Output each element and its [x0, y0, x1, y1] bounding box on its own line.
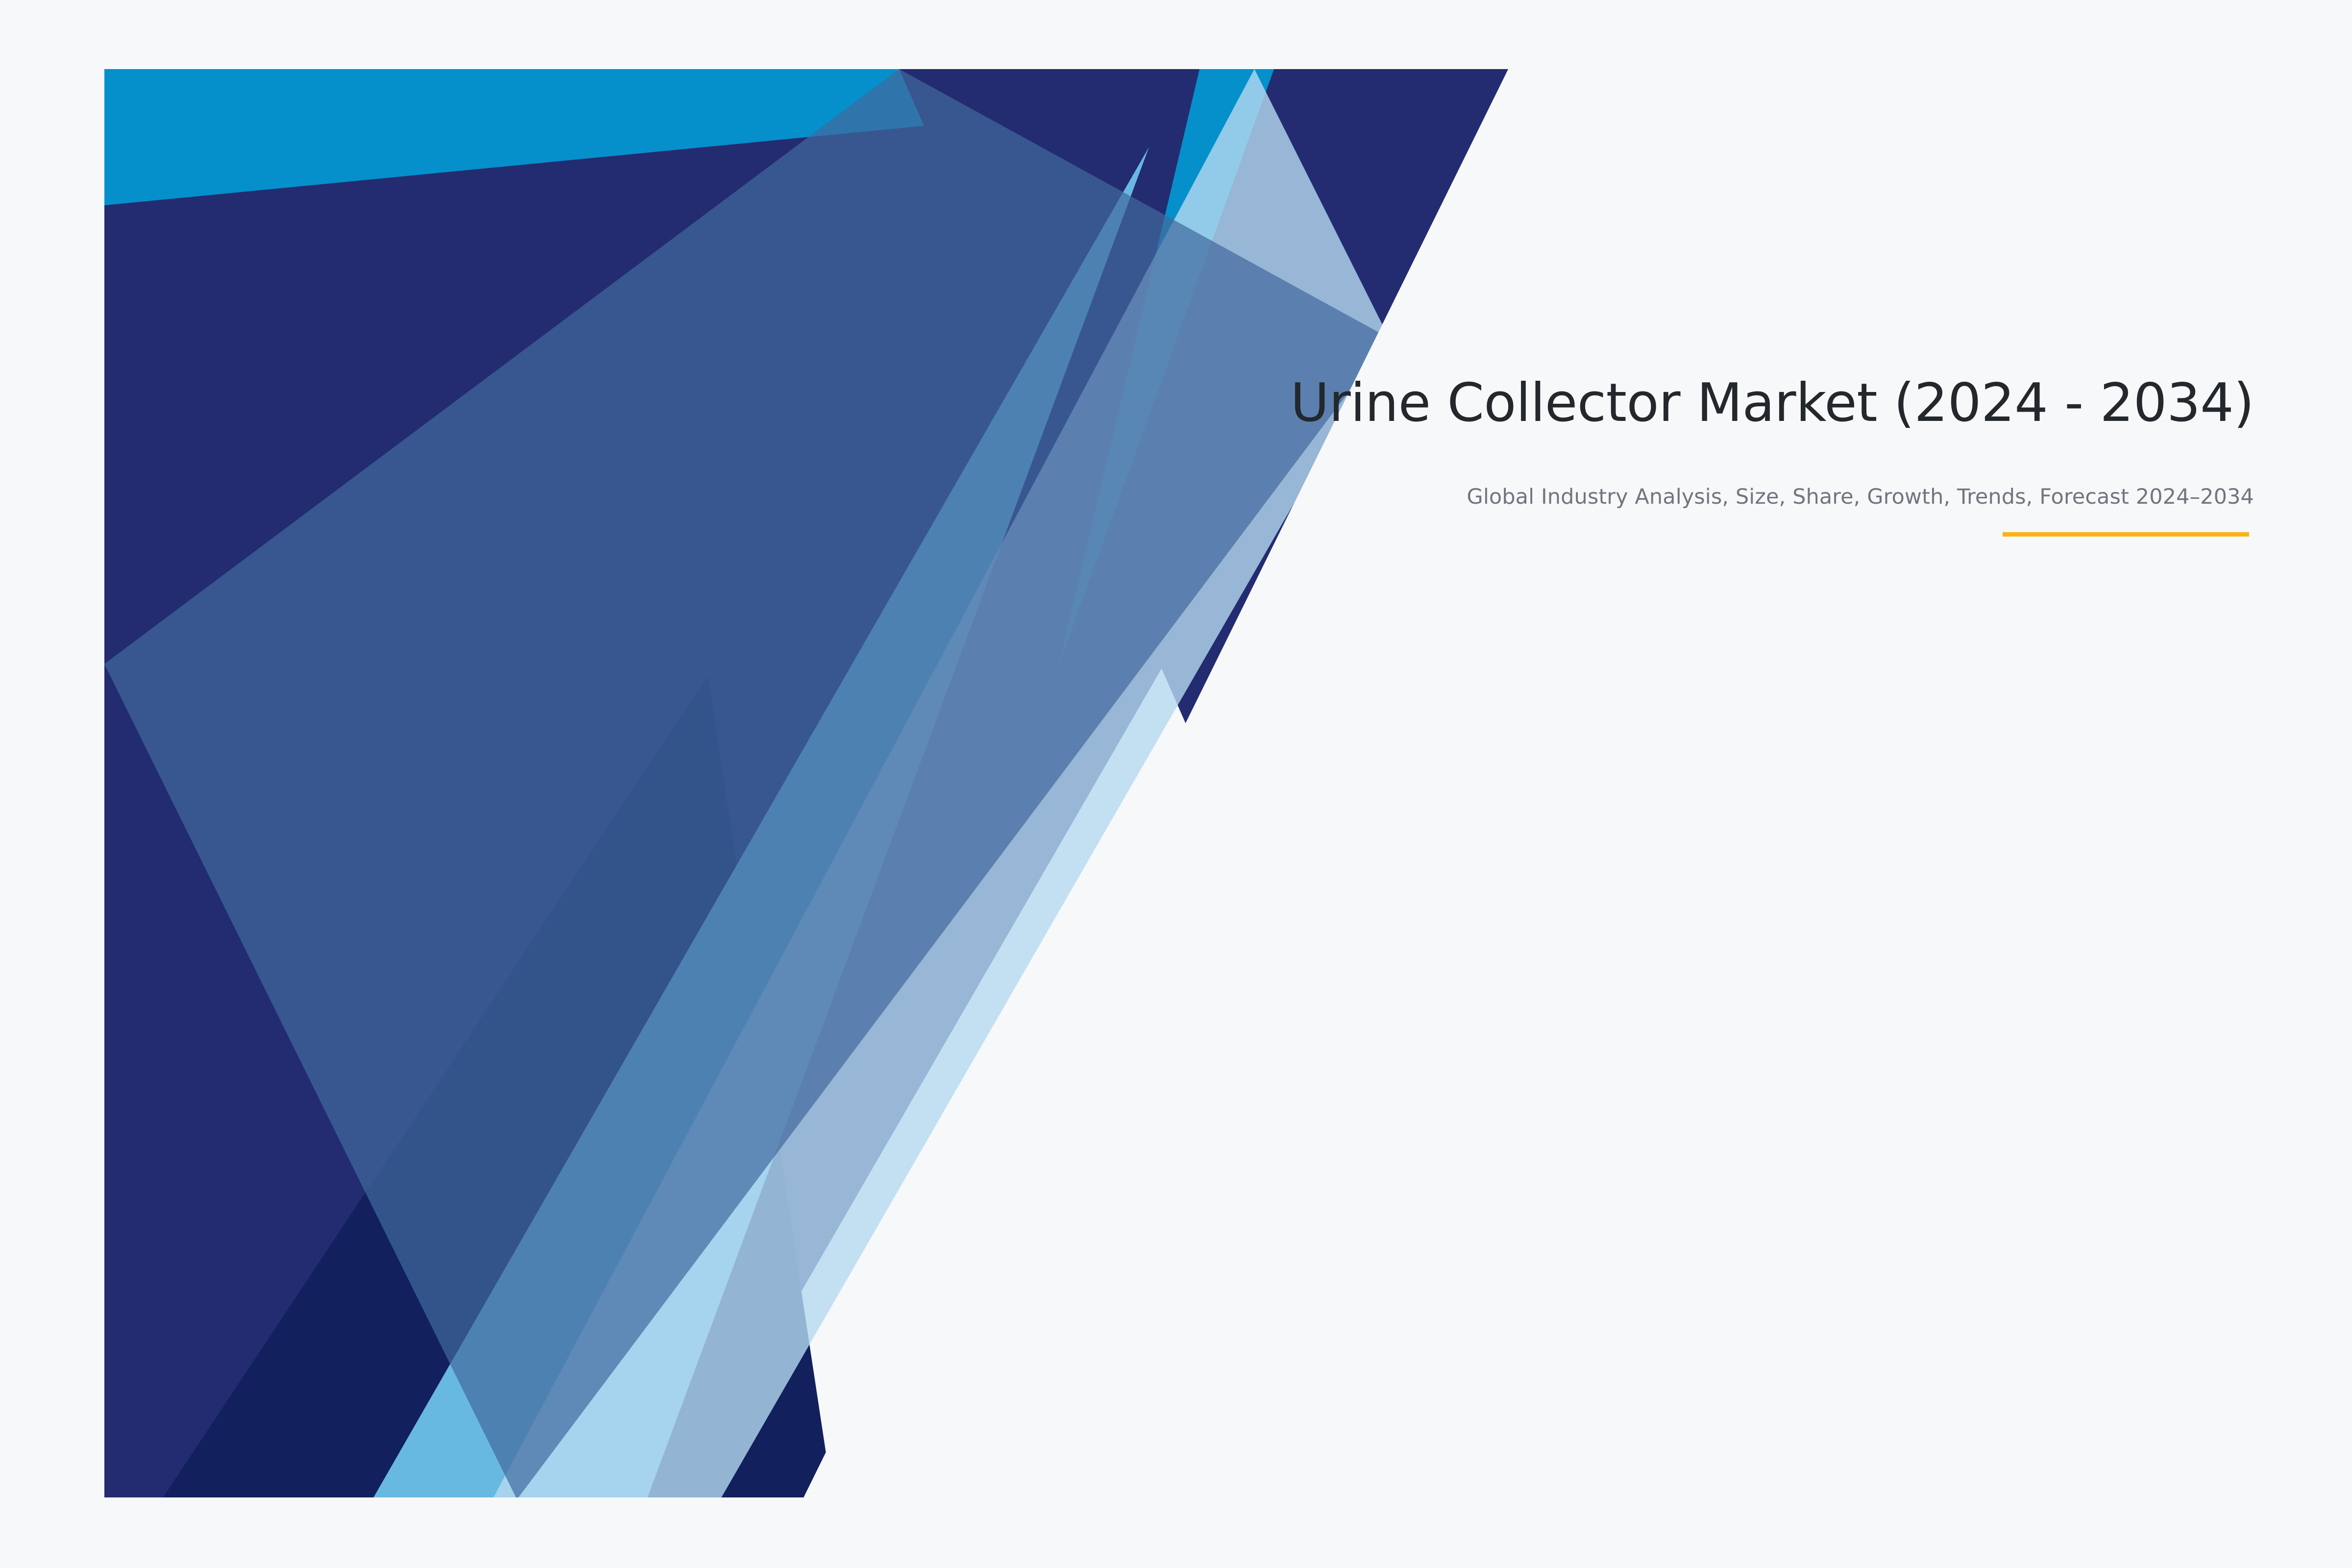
title-text-block: Urine Collector Market (2024 - 2034) Glo…	[1117, 372, 2254, 512]
page-title: Urine Collector Market (2024 - 2034)	[1117, 372, 2254, 434]
title-slide: Urine Collector Market (2024 - 2034) Glo…	[0, 0, 2352, 1568]
title-underline-accent	[2003, 532, 2249, 537]
abstract-geometric-cover-graphic	[0, 0, 2352, 1568]
page-subtitle: Global Industry Analysis, Size, Share, G…	[1117, 434, 2254, 512]
title-wrapper: Urine Collector Market (2024 - 2034)	[1117, 372, 2254, 434]
artwork-shape-group	[49, 69, 1529, 1499]
